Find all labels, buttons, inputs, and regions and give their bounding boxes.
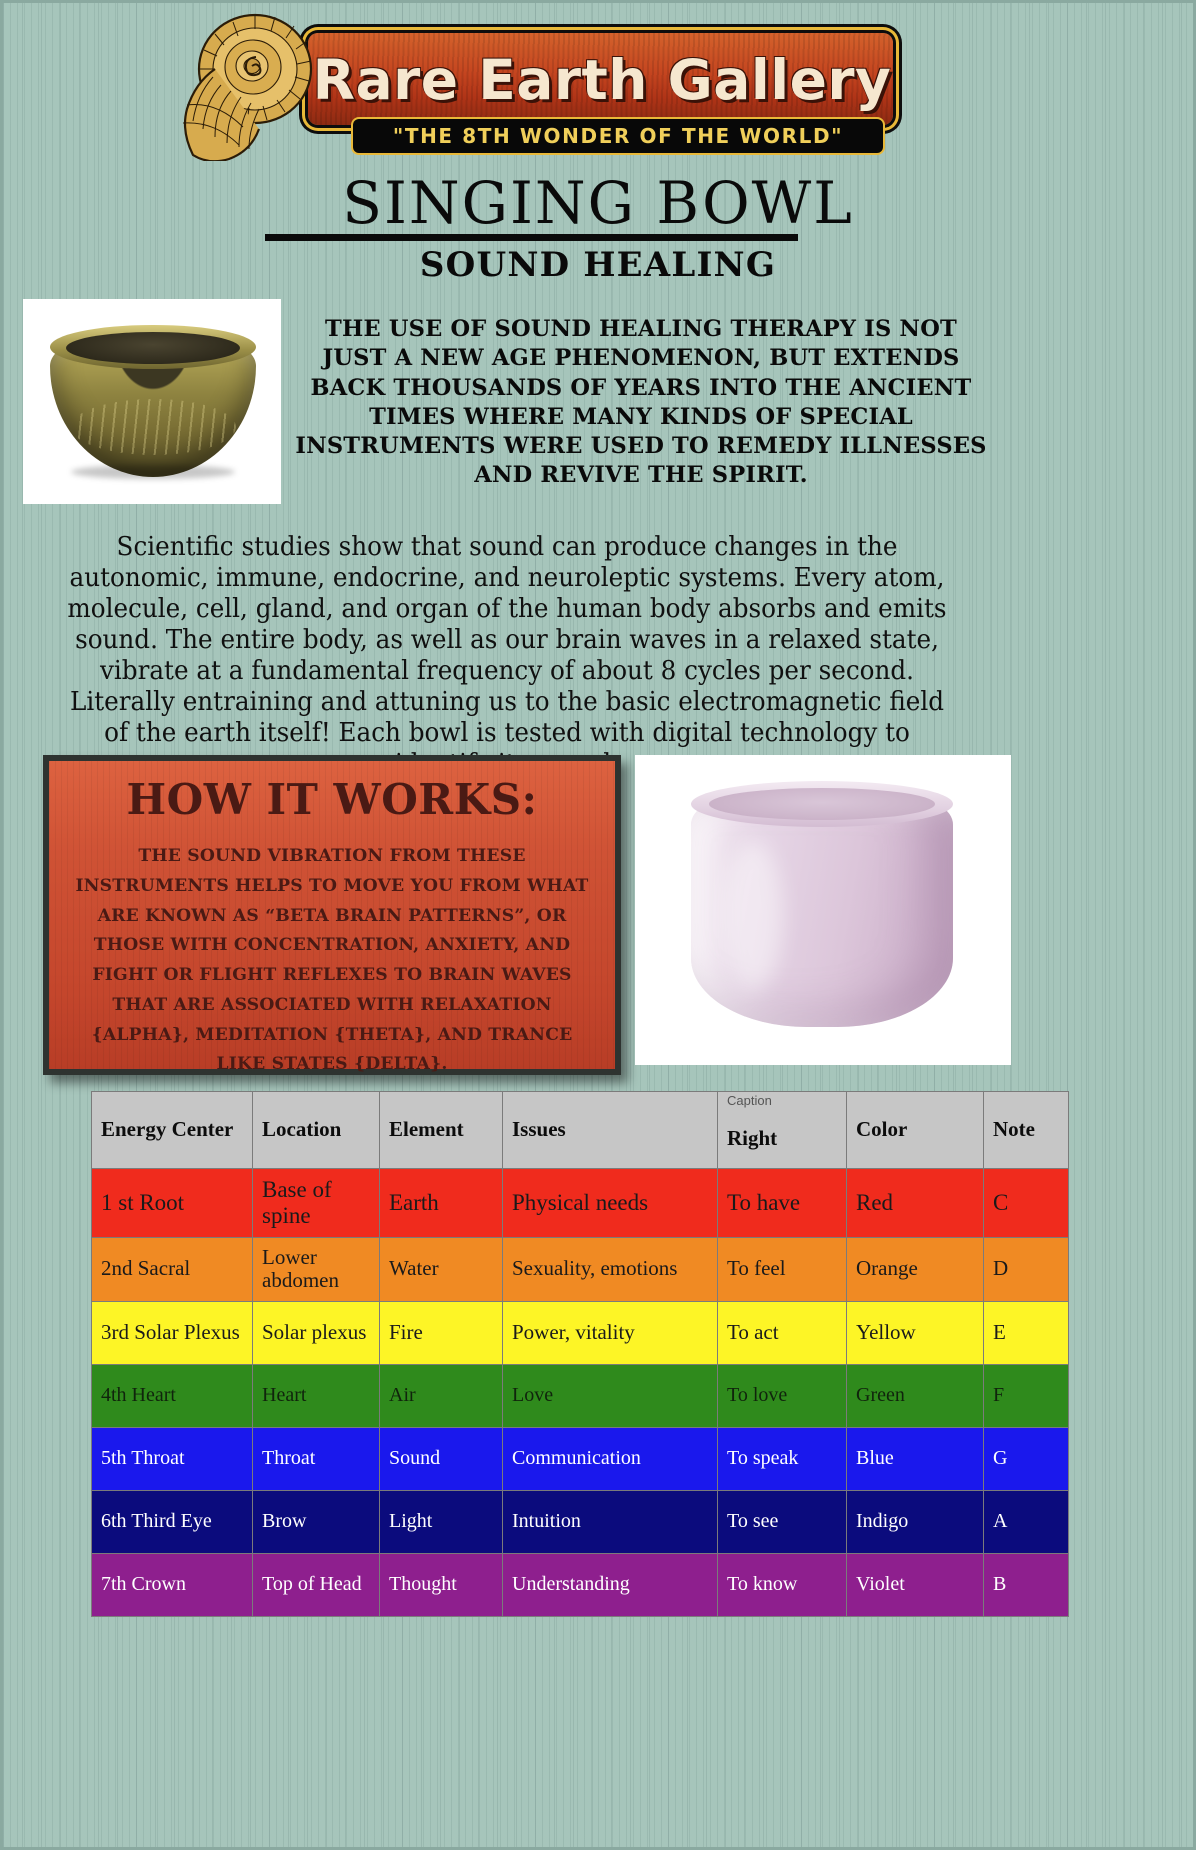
table-row: 7th Crown Top of Head Thought Understand…: [92, 1553, 1069, 1616]
cell-issues: Physical needs: [503, 1169, 718, 1238]
table-row: 4th Heart Heart Air Love To love Green F: [92, 1364, 1069, 1427]
crystal-bowl-photo: [635, 755, 1011, 1065]
col-location: Location: [253, 1092, 380, 1169]
cell-element: Sound: [380, 1427, 503, 1490]
cell-energy-center: 6th Third Eye: [92, 1490, 253, 1553]
cell-right: To love: [718, 1364, 847, 1427]
cell-issues: Love: [503, 1364, 718, 1427]
table-row: 5th Throat Throat Sound Communication To…: [92, 1427, 1069, 1490]
body-paragraph: Scientific studies show that sound can p…: [55, 531, 959, 779]
cell-color: Blue: [847, 1427, 984, 1490]
cell-issues: Understanding: [503, 1553, 718, 1616]
cell-issues: Intuition: [503, 1490, 718, 1553]
cell-location: Solar plexus: [253, 1301, 380, 1364]
cell-color: Violet: [847, 1553, 984, 1616]
col-issues: Issues: [503, 1092, 718, 1169]
cell-energy-center: 3rd Solar Plexus: [92, 1301, 253, 1364]
cell-color: Orange: [847, 1237, 984, 1301]
cell-right: To act: [718, 1301, 847, 1364]
col-energy-center: Energy Center: [92, 1092, 253, 1169]
chakra-table: Energy Center Location Element Issues Ca…: [91, 1091, 1069, 1617]
cell-location: Heart: [253, 1364, 380, 1427]
crystal-bowl-highlight: [723, 841, 783, 991]
table-row: 3rd Solar Plexus Solar plexus Fire Power…: [92, 1301, 1069, 1364]
cell-element: Water: [380, 1237, 503, 1301]
how-it-works-title: HOW IT WORKS:: [49, 775, 615, 824]
cell-element: Air: [380, 1364, 503, 1427]
cell-element: Light: [380, 1490, 503, 1553]
cell-right: To know: [718, 1553, 847, 1616]
cell-issues: Sexuality, emotions: [503, 1237, 718, 1301]
cell-note: F: [984, 1364, 1069, 1427]
col-right-label: Right: [727, 1126, 777, 1150]
cell-location: Brow: [253, 1490, 380, 1553]
page-subtitle: SOUND HEALING: [3, 245, 1193, 285]
col-right: Caption Right: [718, 1092, 847, 1169]
chakra-table-body: 1 st Root Base of spine Earth Physical n…: [92, 1169, 1069, 1617]
cell-location: Throat: [253, 1427, 380, 1490]
cell-color: Green: [847, 1364, 984, 1427]
cell-location: Lower abdomen: [253, 1237, 380, 1301]
intro-text: THE USE OF SOUND HEALING THERAPY IS NOT …: [291, 315, 991, 491]
how-it-works-body: THE SOUND VIBRATION FROM THESE INSTRUMEN…: [49, 842, 615, 1080]
cell-note: B: [984, 1553, 1069, 1616]
ammonite-fossil-icon: [163, 11, 338, 161]
page-title: SINGING BOWL: [3, 169, 1193, 237]
cell-note: A: [984, 1490, 1069, 1553]
chakra-table-wrap: Energy Center Location Element Issues Ca…: [91, 1091, 939, 1617]
cell-issues: Power, vitality: [503, 1301, 718, 1364]
cell-color: Yellow: [847, 1301, 984, 1364]
table-header-row: Energy Center Location Element Issues Ca…: [92, 1092, 1069, 1169]
cell-location: Base of spine: [253, 1169, 380, 1238]
cell-right: To feel: [718, 1237, 847, 1301]
table-row: 6th Third Eye Brow Light Intuition To se…: [92, 1490, 1069, 1553]
table-row: 1 st Root Base of spine Earth Physical n…: [92, 1169, 1069, 1238]
cell-element: Fire: [380, 1301, 503, 1364]
brass-bowl-engraving: [71, 399, 236, 455]
cell-right: To speak: [718, 1427, 847, 1490]
cell-color: Red: [847, 1169, 984, 1238]
cell-energy-center: 4th Heart: [92, 1364, 253, 1427]
cell-element: Earth: [380, 1169, 503, 1238]
crystal-bowl-interior: [709, 788, 935, 820]
cell-issues: Communication: [503, 1427, 718, 1490]
cell-note: G: [984, 1427, 1069, 1490]
how-it-works-box: HOW IT WORKS: THE SOUND VIBRATION FROM T…: [43, 755, 621, 1075]
cell-energy-center: 7th Crown: [92, 1553, 253, 1616]
brand-name: Rare Earth Gallery: [313, 37, 891, 123]
col-note: Note: [984, 1092, 1069, 1169]
col-element: Element: [380, 1092, 503, 1169]
cell-energy-center: 1 st Root: [92, 1169, 253, 1238]
title-underline: [265, 234, 798, 241]
cell-note: E: [984, 1301, 1069, 1364]
cell-right: To see: [718, 1490, 847, 1553]
cell-energy-center: 2nd Sacral: [92, 1237, 253, 1301]
brass-bowl-photo: [23, 299, 281, 504]
brass-bowl-interior: [66, 332, 240, 364]
cell-note: D: [984, 1237, 1069, 1301]
col-color: Color: [847, 1092, 984, 1169]
cell-element: Thought: [380, 1553, 503, 1616]
cell-right: To have: [718, 1169, 847, 1238]
cell-location: Top of Head: [253, 1553, 380, 1616]
caption-label: Caption: [727, 1094, 772, 1109]
cell-note: C: [984, 1169, 1069, 1238]
table-row: 2nd Sacral Lower abdomen Water Sexuality…: [92, 1237, 1069, 1301]
brand-tagline: "THE 8TH WONDER OF THE WORLD": [353, 119, 883, 153]
brand-logo-banner[interactable]: Rare Earth Gallery "THE 8TH WONDER OF TH…: [163, 11, 893, 163]
cell-energy-center: 5th Throat: [92, 1427, 253, 1490]
brass-bowl-shadow: [71, 465, 235, 479]
cell-color: Indigo: [847, 1490, 984, 1553]
poster-page: Rare Earth Gallery "THE 8TH WONDER OF TH…: [0, 0, 1196, 1850]
